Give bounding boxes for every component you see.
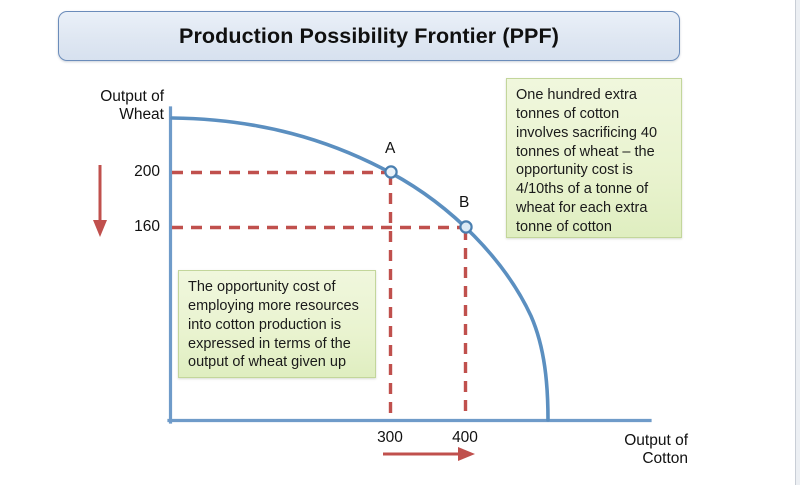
cotton-increase-arrow [383, 447, 475, 461]
data-point-b-label: B [459, 194, 469, 212]
x-tick-label-400: 400 [443, 429, 487, 447]
y-tick-label-200: 200 [116, 163, 160, 181]
opportunity-cost-note: One hundred extra tonnes of cotton invol… [506, 78, 682, 238]
page-edge-fill [796, 0, 800, 485]
opportunity-cost-definition-note: The opportunity cost of employing more r… [178, 270, 376, 378]
data-point-a-label: A [385, 140, 395, 158]
slide-canvas: Production Possibility Frontier (PPF) Ou… [0, 0, 800, 485]
data-point-a-marker [385, 166, 396, 177]
y-axis-title: Output of Wheat [72, 88, 164, 125]
wheat-decrease-arrow [93, 165, 107, 237]
x-tick-label-300: 300 [368, 429, 412, 447]
x-axis-title: Output of Cotton [578, 432, 688, 469]
y-tick-label-160: 160 [116, 218, 160, 236]
data-point-b-marker [460, 221, 471, 232]
ppf-chart [0, 0, 800, 485]
